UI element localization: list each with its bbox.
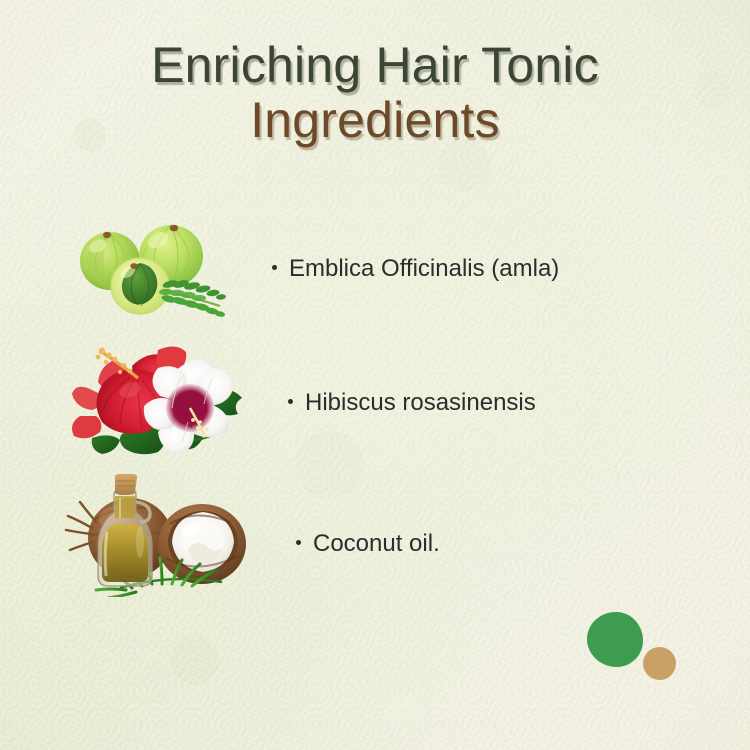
ingredient-label-amla: Emblica Officinalis (amla) xyxy=(272,255,559,283)
title-line-2: Ingredients xyxy=(0,95,750,146)
ingredient-label-text: Coconut oil. xyxy=(313,530,440,558)
coconut-oil-bottle xyxy=(98,474,152,586)
green-circle-decoration xyxy=(587,612,643,667)
bullet-dot-icon xyxy=(296,540,301,545)
ingredient-label-hibiscus: Hibiscus rosasinensis xyxy=(288,389,536,417)
bullet-dot-icon xyxy=(272,265,277,270)
amla-berry-halved xyxy=(111,258,169,314)
halved-coconut xyxy=(158,504,246,584)
ingredient-label-text: Hibiscus rosasinensis xyxy=(305,389,536,417)
ingredient-label-coconut: Coconut oil. xyxy=(296,530,440,558)
amla-gooseberry-illustration xyxy=(70,218,230,323)
slide-canvas: Enriching Hair Tonic Ingredients xyxy=(0,0,750,750)
amla-leaf-sprig xyxy=(159,279,226,318)
slide-title: Enriching Hair Tonic Ingredients xyxy=(0,40,750,146)
title-line-1: Enriching Hair Tonic xyxy=(0,40,750,91)
tan-circle-decoration xyxy=(643,647,676,680)
ingredient-label-text: Emblica Officinalis (amla) xyxy=(289,255,559,283)
bullet-dot-icon xyxy=(288,399,293,404)
hibiscus-flowers-photo xyxy=(62,338,247,463)
coconut-oil-photo xyxy=(62,472,252,597)
